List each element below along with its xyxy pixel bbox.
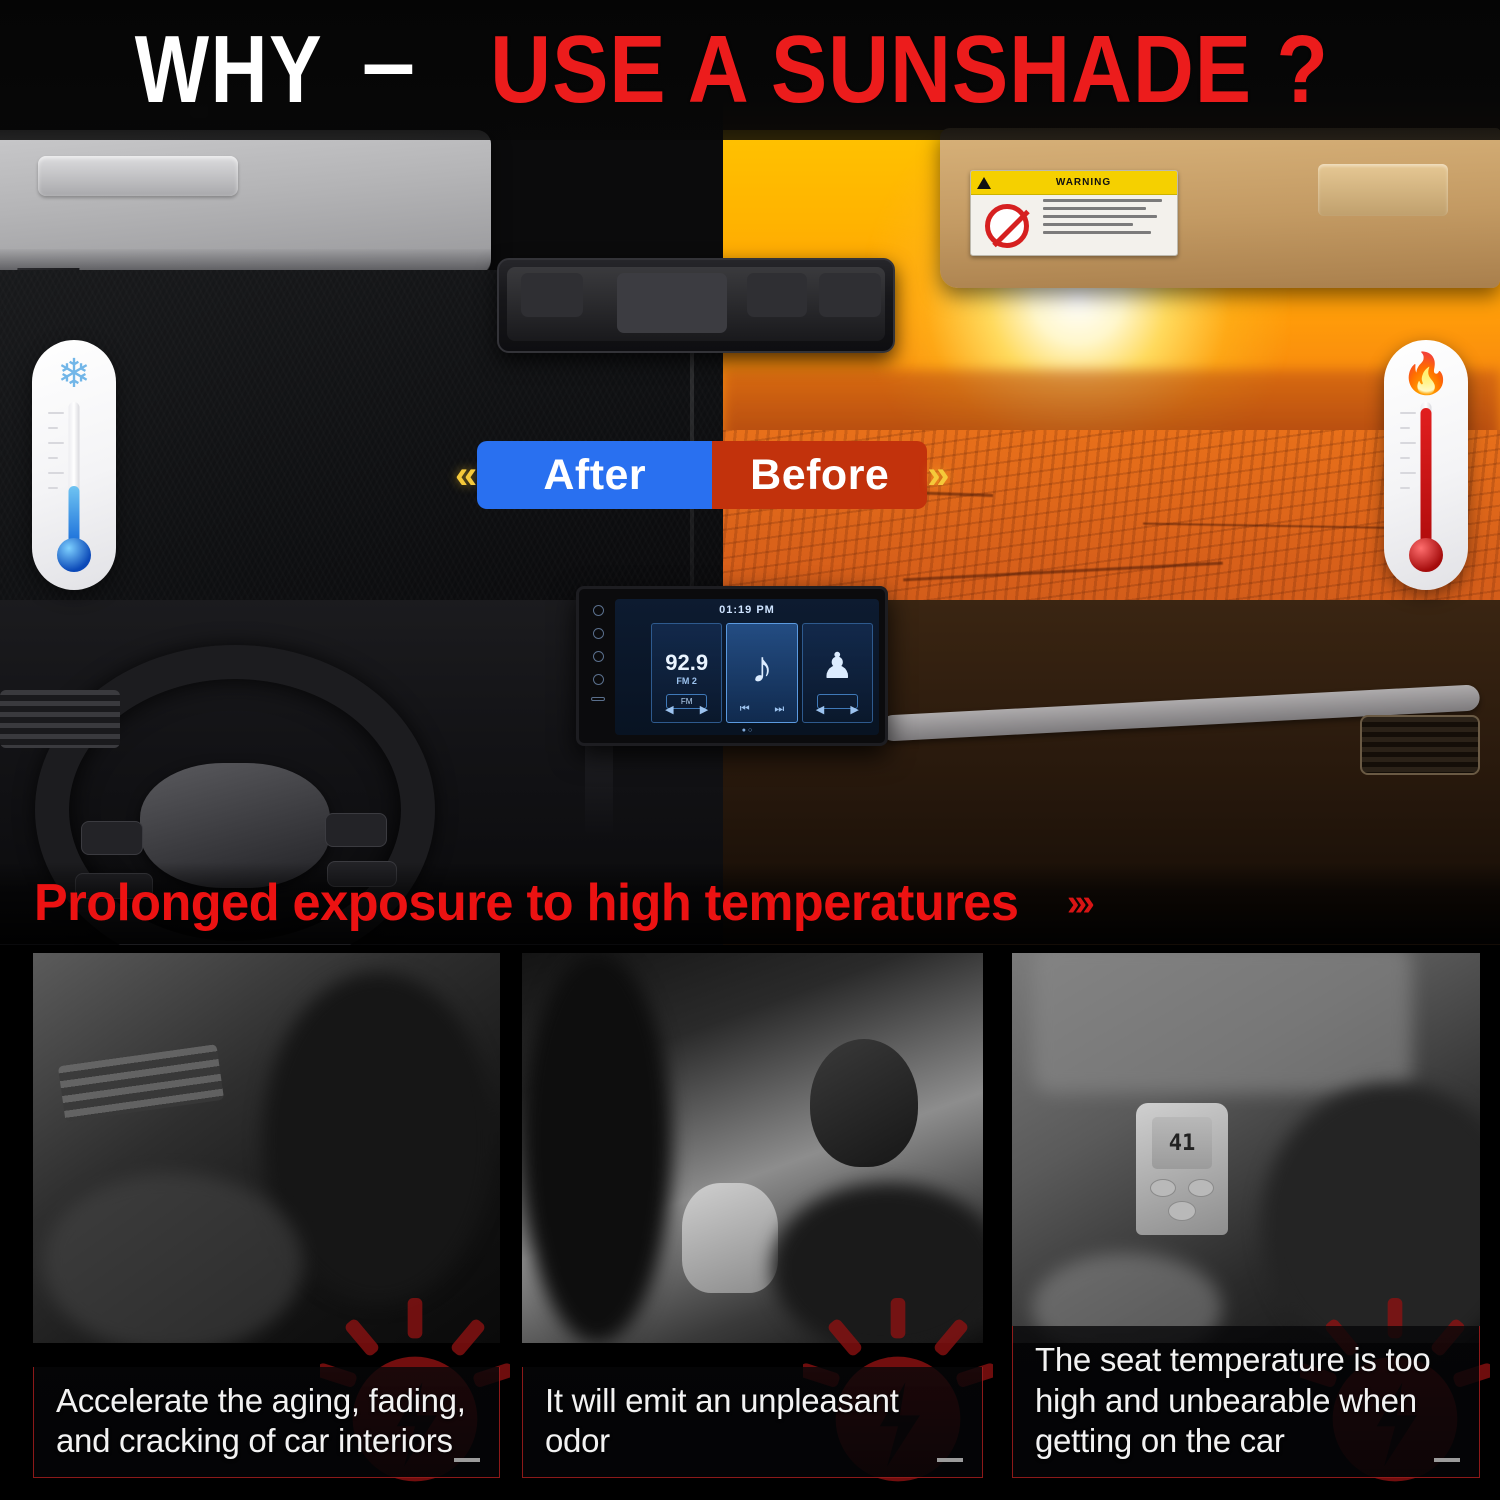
gun-button-right[interactable] <box>1188 1179 1214 1197</box>
wheel-button-left <box>81 821 143 855</box>
panel-aging: Accelerate the aging, fading, and cracki… <box>33 953 500 1478</box>
panel-photo-interior-dashboard <box>33 953 500 1343</box>
desert-crack <box>903 562 1223 582</box>
driver-hand <box>682 1183 778 1293</box>
hot-thermometer: 🔥 <box>1384 340 1468 590</box>
subheading-text: Prolonged exposure to high temperatures <box>34 873 1018 933</box>
panel-caption-text: It will emit an unpleasant odor <box>545 1381 964 1462</box>
infotainment-head-unit[interactable]: 01:19 PM 92.9 FM 2 FM ◀ ▶ ♪ <box>576 586 888 746</box>
contact-person-icon: ♟ <box>803 648 872 684</box>
panel-odor: It will emit an unpleasant odor <box>522 953 983 1478</box>
thermometer-bulb-cold <box>57 538 91 572</box>
subheading-bar: Prolonged exposure to high temperatures … <box>0 862 1500 944</box>
music-note-icon: ♪ <box>727 646 796 690</box>
rear-headrest <box>521 273 583 317</box>
driver-head <box>810 1039 918 1167</box>
sun-visor-left <box>0 130 491 275</box>
panel-photo-seat-temperature: 41 <box>1012 953 1480 1343</box>
scale-tick <box>1400 442 1416 444</box>
warning-label-lines <box>1043 195 1177 256</box>
media-next-icon[interactable]: ⏭ <box>774 703 784 716</box>
door-frame-shadow <box>522 953 672 1343</box>
after-badge[interactable]: After <box>477 441 712 509</box>
phone-prev-icon[interactable]: ◀ <box>816 703 824 716</box>
before-after-toggle: « After Before » <box>455 432 1015 518</box>
dash-vent-right <box>1360 715 1480 775</box>
infrared-thermometer-gun: 41 <box>1136 1103 1228 1235</box>
radio-frequency: 92.9 <box>652 650 721 676</box>
no-child-seat-icon <box>971 195 1043 256</box>
hero-comparison: WARNING <box>0 0 1500 945</box>
radio-seek-controls[interactable]: ◀ ▶ <box>652 703 721 716</box>
cold-thermometer: ❄ <box>32 340 116 590</box>
scale-tick <box>48 427 58 429</box>
scale-tick <box>1400 412 1416 414</box>
scale-tick <box>1400 472 1416 474</box>
warning-label-text: WARNING <box>996 177 1171 188</box>
warning-text-line <box>1043 199 1162 202</box>
rear-headrest <box>747 273 807 317</box>
gun-button-center[interactable] <box>1168 1201 1196 1221</box>
phone-controls[interactable]: ◀ ▶ <box>803 703 872 716</box>
rearview-mirror <box>497 258 895 353</box>
consequence-panels: Accelerate the aging, fading, and cracki… <box>0 945 1500 1500</box>
caption-dash-mark <box>1434 1458 1460 1462</box>
snowflake-icon: ❄ <box>32 354 116 394</box>
clock-label: 01:19 PM <box>719 604 775 616</box>
head-unit-side-buttons[interactable] <box>585 605 611 713</box>
panel-caption-text: The seat temperature is too high and unb… <box>1035 1340 1461 1461</box>
warning-text-line <box>1043 231 1151 234</box>
head-unit-button-home[interactable] <box>593 628 604 639</box>
radio-band: FM 2 <box>652 676 721 686</box>
desert-crack <box>1143 523 1423 530</box>
thermometer-scale-ticks <box>1400 412 1418 542</box>
radio-next-icon[interactable]: ▶ <box>700 703 708 716</box>
warning-triangle-icon <box>977 177 991 189</box>
page-title: WHY – USE A SUNSHADE ? <box>0 0 1500 140</box>
visor-vanity-mirror-right <box>1318 164 1448 216</box>
page-indicator[interactable]: ● ○ <box>615 727 879 734</box>
tile-phone[interactable]: ♟ ◀ ▶ <box>802 623 873 723</box>
dash-vent-left <box>0 690 120 748</box>
phone-next-icon[interactable]: ▶ <box>850 703 858 716</box>
scale-tick <box>1400 427 1410 429</box>
panel-caption-text: Accelerate the aging, fading, and cracki… <box>56 1381 481 1462</box>
panel-photo-driver-reacting <box>522 953 983 1343</box>
rear-headrest <box>819 273 881 317</box>
media-prev-icon[interactable]: ⏮ <box>740 703 750 716</box>
gun-button-left[interactable] <box>1150 1179 1176 1197</box>
title-why: WHY <box>135 15 324 125</box>
scale-tick <box>48 442 64 444</box>
scale-tick <box>1400 487 1410 489</box>
airbag-warning-label: WARNING <box>970 170 1178 256</box>
chevron-left-icon: « <box>455 455 477 495</box>
chevron-right-icon: » <box>927 455 949 495</box>
infotainment-display[interactable]: 01:19 PM 92.9 FM 2 FM ◀ ▶ ♪ <box>615 599 879 735</box>
radio-prev-icon[interactable]: ◀ <box>665 703 673 716</box>
warning-text-line <box>1043 223 1133 226</box>
caption-dash-mark <box>937 1458 963 1462</box>
product-infographic: WARNING <box>0 0 1500 1500</box>
thermometer-scale-ticks <box>48 412 66 542</box>
panel-caption: The seat temperature is too high and unb… <box>1012 1326 1480 1478</box>
rearview-mirror-reflection <box>507 267 885 341</box>
scale-tick <box>1400 457 1410 459</box>
warning-text-line <box>1043 207 1146 210</box>
media-transport-controls[interactable]: ⏮ ⏭ <box>727 703 796 716</box>
thermometer-gun-display: 41 <box>1152 1117 1212 1169</box>
rear-headrest <box>617 273 727 333</box>
title-use-a-sunshade: USE A SUNSHADE ? <box>490 15 1329 125</box>
wheel-button-right <box>325 813 387 847</box>
tile-media[interactable]: ♪ ⏮ ⏭ <box>726 623 797 723</box>
scale-tick <box>48 457 58 459</box>
head-unit-button-media[interactable] <box>593 674 604 685</box>
visor-vanity-mirror <box>38 156 238 196</box>
dash-highlight <box>43 1173 303 1343</box>
caption-dash-mark <box>454 1458 480 1462</box>
warning-label-body <box>971 195 1177 256</box>
seat-back-highlight <box>1032 953 1412 1093</box>
flame-icon: 🔥 <box>1384 354 1468 394</box>
title-dash: – <box>344 8 433 132</box>
panel-caption: Accelerate the aging, fading, and cracki… <box>33 1367 500 1479</box>
warning-label-header: WARNING <box>971 171 1177 195</box>
before-badge[interactable]: Before <box>712 441 927 509</box>
head-unit-button-power[interactable] <box>593 605 604 616</box>
warning-text-line <box>1043 215 1157 218</box>
sun-visor-right: WARNING <box>940 128 1500 288</box>
head-unit-button-eject[interactable] <box>591 697 605 701</box>
tile-radio[interactable]: 92.9 FM 2 FM ◀ ▶ <box>651 623 722 723</box>
panel-caption: It will emit an unpleasant odor <box>522 1367 983 1479</box>
prohibition-symbol <box>985 204 1029 248</box>
thermometer-bulb-hot <box>1409 538 1443 572</box>
thermometer-mercury-hot <box>1421 408 1432 548</box>
home-tiles: 92.9 FM 2 FM ◀ ▶ ♪ ⏮ ⏭ <box>651 623 873 723</box>
head-unit-button-volume[interactable] <box>593 651 604 662</box>
infotainment-mount <box>585 740 613 835</box>
scale-tick <box>48 472 64 474</box>
dash-vent-closeup <box>58 1044 224 1122</box>
scale-tick <box>48 487 58 489</box>
status-bar: 01:19 PM <box>615 599 879 621</box>
chevron-triple-icon: ››› <box>1067 882 1090 925</box>
panel-seat-temp: 41 The seat temperatur <box>1012 953 1480 1478</box>
scale-tick <box>48 412 64 414</box>
